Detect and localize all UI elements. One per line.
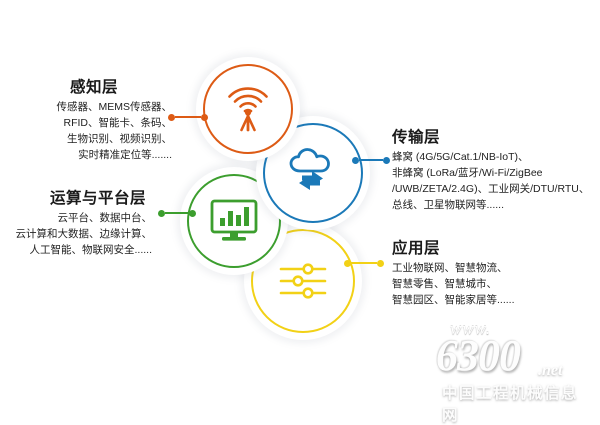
connector-dot-start — [168, 114, 175, 121]
connector-line — [359, 159, 383, 161]
connector-transmission — [352, 154, 390, 166]
layer-title-transmission: 传输层 — [392, 128, 600, 147]
desc-line: /UWB/ZETA/2.4G)、工业网关/DTU/RTU、 — [392, 182, 600, 198]
text-block-application: 应用层 工业物联网、智慧物流、 智慧零售、智慧城市、 智慧园区、智能家居等...… — [392, 239, 592, 309]
connector-dot-start — [352, 157, 359, 164]
watermark-www: www. — [450, 319, 491, 339]
desc-line: RFID、智能卡、条码、 — [0, 116, 172, 132]
connector-application — [344, 257, 384, 269]
connector-line — [165, 212, 189, 214]
connector-dot-end — [377, 260, 384, 267]
layer-desc-computing: 云平台、数据中台、 云计算和大数据、边缘计算、 人工智能、物联网安全...... — [0, 211, 152, 259]
desc-line: 人工智能、物联网安全...... — [0, 243, 152, 259]
infographic-canvas: 感知层 传感器、MEMS传感器、 RFID、智能卡、条码、 生物识别、视频识别、… — [0, 0, 600, 415]
connector-line — [175, 116, 201, 118]
desc-line: 工业物联网、智慧物流、 — [392, 261, 592, 277]
connector-dot-start — [158, 210, 165, 217]
watermark: www. 6300 .net 中国工程机械信息网 — [432, 318, 592, 410]
connector-dot-end — [189, 210, 196, 217]
layer-desc-perception: 传感器、MEMS传感器、 RFID、智能卡、条码、 生物识别、视频识别、 实时精… — [0, 100, 172, 164]
signal-tower-icon — [224, 85, 272, 133]
desc-line: 实时精准定位等....... — [0, 148, 172, 164]
connector-dot-end — [383, 157, 390, 164]
connector-line — [351, 262, 377, 264]
connector-computing — [158, 207, 196, 219]
layer-title-application: 应用层 — [392, 239, 592, 258]
cloud-transfer-icon — [286, 148, 340, 198]
connector-dot-end — [201, 114, 208, 121]
text-block-computing: 运算与平台层 云平台、数据中台、 云计算和大数据、边缘计算、 人工智能、物联网安… — [0, 189, 152, 259]
layer-title-perception: 感知层 — [0, 78, 118, 97]
desc-line: 智慧园区、智能家居等...... — [392, 293, 592, 309]
layer-title-computing: 运算与平台层 — [0, 189, 146, 208]
watermark-number: 6300 — [436, 330, 520, 381]
node-circle-perception[interactable] — [196, 57, 300, 161]
watermark-tld: .net — [538, 362, 562, 380]
desc-line: 云平台、数据中台、 — [0, 211, 152, 227]
text-block-transmission: 传输层 蜂窝 (4G/5G/Cat.1/NB-IoT)、 非蜂窝 (LoRa/蓝… — [392, 128, 600, 214]
desc-line: 云计算和大数据、边缘计算、 — [0, 227, 152, 243]
desc-line: 蜂窝 (4G/5G/Cat.1/NB-IoT)、 — [392, 150, 600, 166]
desc-line: 传感器、MEMS传感器、 — [0, 100, 172, 116]
desc-line: 非蜂窝 (LoRa/蓝牙/Wi-Fi/ZigBee — [392, 166, 600, 182]
layer-desc-transmission: 蜂窝 (4G/5G/Cat.1/NB-IoT)、 非蜂窝 (LoRa/蓝牙/Wi… — [392, 150, 600, 214]
watermark-site-name: 中国工程机械信息网 — [442, 381, 592, 425]
desc-line: 智慧零售、智慧城市、 — [392, 277, 592, 293]
connector-dot-start — [344, 260, 351, 267]
desc-line: 总线、卫星物联网等...... — [392, 198, 600, 214]
desc-line: 生物识别、视频识别、 — [0, 132, 172, 148]
layer-desc-application: 工业物联网、智慧物流、 智慧零售、智慧城市、 智慧园区、智能家居等...... — [392, 261, 592, 309]
connector-perception — [168, 111, 208, 123]
monitor-chart-icon — [209, 198, 259, 244]
sliders-icon — [277, 259, 329, 303]
text-block-perception: 感知层 传感器、MEMS传感器、 RFID、智能卡、条码、 生物识别、视频识别、… — [0, 78, 172, 164]
